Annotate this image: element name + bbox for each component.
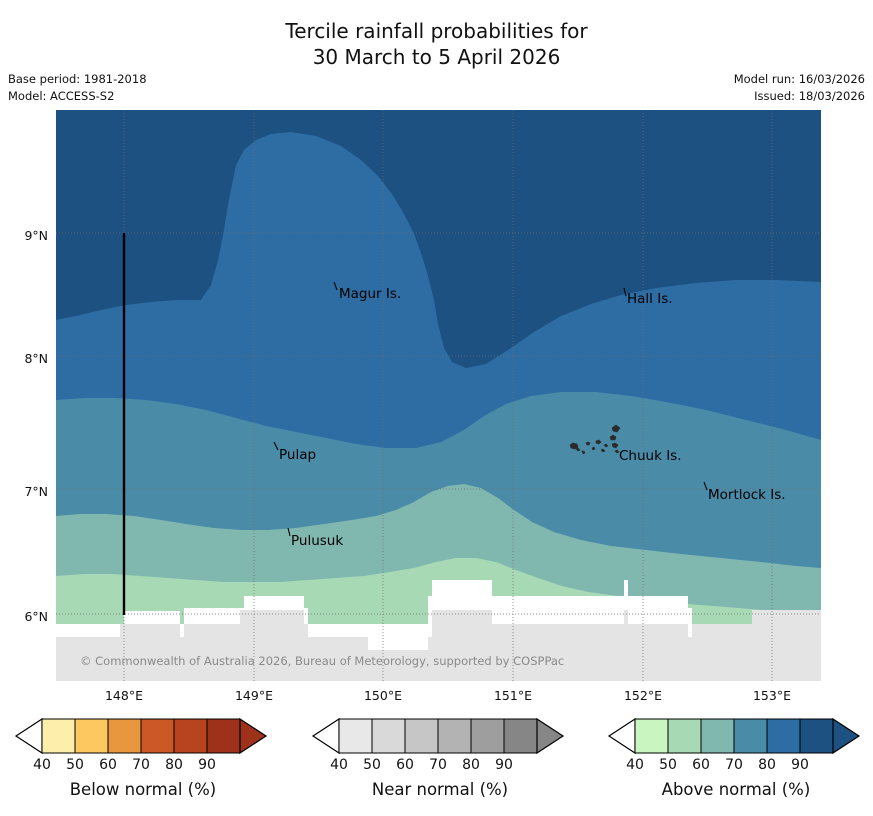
colorbar-above-tick-90: 90: [780, 757, 820, 773]
contour-map-plot: Magur Is. Hall Is. Pulap Chuuk Is. Mortl…: [56, 110, 821, 681]
colorbar-extend-low-below: [16, 719, 42, 753]
island-label-mortlock: Mortlock Is.: [708, 487, 786, 503]
colorbar-cell-near-40: [339, 719, 372, 753]
metadata-left: Base period: 1981-2018 Model: ACCESS-S2: [8, 71, 147, 105]
island-label-hall: Hall Is.: [627, 291, 673, 307]
base-period-text: Base period: 1981-2018: [8, 71, 147, 88]
colorbar-cell-near-90: [504, 719, 537, 753]
colorbar-cell-below-50: [75, 719, 108, 753]
colorbar-near-normal: 40 50 60 70 80 90 Near normal (%): [311, 712, 571, 764]
copyright-text: © Commonwealth of Australia 2026, Bureau…: [80, 654, 564, 668]
colorbar-extend-high-above: [833, 719, 859, 753]
colorbar-cell-below-40: [42, 719, 75, 753]
y-tick-label-9n: 9°N: [0, 228, 48, 243]
colorbar-above-normal: 40 50 60 70 80 90 Above normal (%): [607, 712, 867, 764]
colorbar-cell-above-70: [734, 719, 767, 753]
colorbar-cell-above-50: [668, 719, 701, 753]
title-line-1: Tercile rainfall probabilities for: [0, 18, 873, 44]
colorbar-near-tick-90: 90: [484, 757, 524, 773]
island-label-magur: Magur Is.: [339, 286, 401, 302]
colorbar-above-normal-swatches: [607, 712, 867, 760]
model-run-text: Model run: 16/03/2026: [734, 71, 865, 88]
y-tick-label-7n: 7°N: [0, 484, 48, 499]
model-text: Model: ACCESS-S2: [8, 88, 147, 105]
colorbar-cell-above-90: [800, 719, 833, 753]
x-tick-label-150e: 150°E: [343, 688, 423, 703]
colorbar-near-normal-swatches: [311, 712, 571, 760]
x-tick-label-149e: 149°E: [214, 688, 294, 703]
colorbar-cell-below-80: [174, 719, 207, 753]
colorbar-cell-near-60: [405, 719, 438, 753]
colorbar-cell-near-50: [372, 719, 405, 753]
colorbar-extend-high-below: [240, 719, 266, 753]
title-line-2: 30 March to 5 April 2026: [0, 44, 873, 70]
colorbar-cell-near-70: [438, 719, 471, 753]
x-tick-label-148e: 148°E: [84, 688, 164, 703]
page-title: Tercile rainfall probabilities for 30 Ma…: [0, 18, 873, 70]
colorbar-extend-low-near: [313, 719, 339, 753]
x-tick-label-152e: 152°E: [603, 688, 683, 703]
colorbar-extend-high-near: [537, 719, 563, 753]
x-tick-label-153e: 153°E: [732, 688, 812, 703]
y-tick-label-6n: 6°N: [0, 609, 48, 624]
colorbar-cell-near-80: [471, 719, 504, 753]
colorbar-cell-above-80: [767, 719, 800, 753]
island-label-pulap: Pulap: [279, 447, 316, 463]
colorbar-cell-below-70: [141, 719, 174, 753]
issued-text: Issued: 18/03/2026: [734, 88, 865, 105]
x-tick-label-151e: 151°E: [473, 688, 553, 703]
colorbar-below-normal-swatches: [14, 712, 274, 760]
colorbar-cell-below-60: [108, 719, 141, 753]
colorbar-below-normal: 40 50 60 70 80 90 Below normal (%): [14, 712, 274, 764]
island-label-chuuk: Chuuk Is.: [619, 448, 682, 464]
island-label-pulusuk: Pulusuk: [291, 533, 343, 549]
colorbar-above-title: Above normal (%): [601, 780, 871, 799]
colorbar-cell-below-90: [207, 719, 240, 753]
metadata-right: Model run: 16/03/2026 Issued: 18/03/2026: [734, 71, 865, 105]
colorbar-below-title: Below normal (%): [8, 780, 278, 799]
y-tick-label-8n: 8°N: [0, 351, 48, 366]
colorbar-below-tick-90: 90: [187, 757, 227, 773]
colorbar-cell-above-40: [635, 719, 668, 753]
colorbar-extend-low-above: [609, 719, 635, 753]
colorbar-cell-above-60: [701, 719, 734, 753]
colorbar-near-title: Near normal (%): [305, 780, 575, 799]
